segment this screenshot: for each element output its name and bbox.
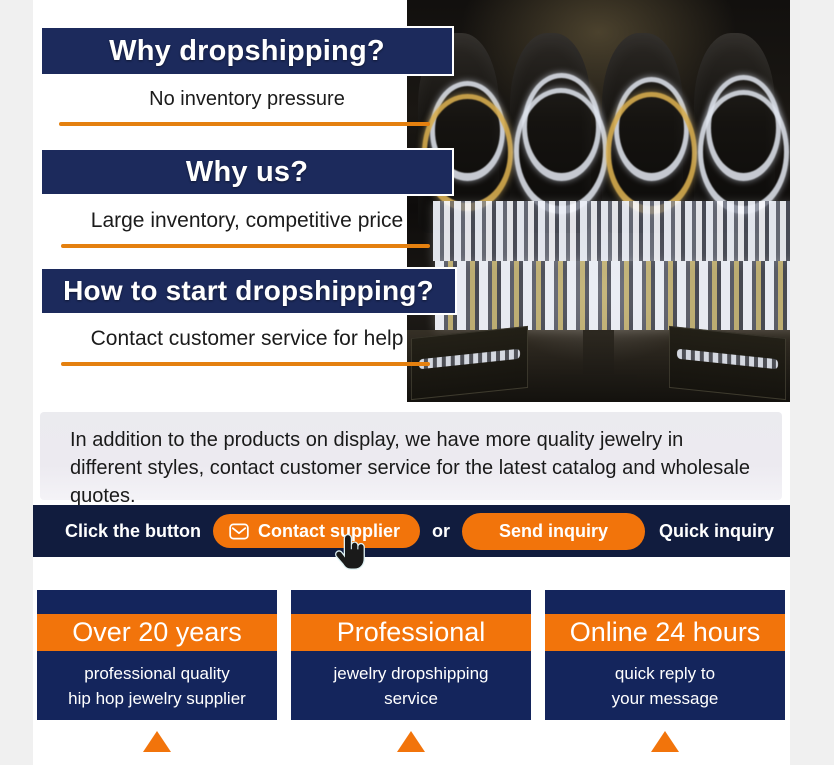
subtext-no-inventory-pressure: No inventory pressure xyxy=(40,88,454,111)
cta-lead-text: Click the button xyxy=(65,521,201,542)
card-title: Professional xyxy=(291,614,531,651)
heading-band-why-us: Why us? xyxy=(40,148,454,196)
card-body: jewelry dropshipping service xyxy=(291,651,531,720)
triangle-marker-icon xyxy=(397,731,425,752)
card-cap xyxy=(545,590,785,614)
subtext-contact-customer-service: Contact customer service for help xyxy=(40,327,454,351)
contact-supplier-button[interactable]: Contact supplier xyxy=(213,514,420,548)
card-title: Online 24 hours xyxy=(545,614,785,651)
feature-card-over-20-years[interactable]: Over 20 years professional quality hip h… xyxy=(35,588,279,722)
card-line-2: your message xyxy=(612,686,719,711)
feature-card-professional[interactable]: Professional jewelry dropshipping servic… xyxy=(289,588,533,722)
cta-or-label: or xyxy=(432,521,450,542)
card-line-1: quick reply to xyxy=(615,661,715,686)
card-body: professional quality hip hop jewelry sup… xyxy=(37,651,277,720)
heading-text: Why dropshipping? xyxy=(109,35,385,68)
card-line-2: service xyxy=(384,686,438,711)
feature-card-online-24-hours[interactable]: Online 24 hours quick reply to your mess… xyxy=(543,588,787,722)
heading-band-how-to-start: How to start dropshipping? xyxy=(40,267,457,315)
feature-card-strip: Over 20 years professional quality hip h… xyxy=(33,583,790,765)
card-line-1: jewelry dropshipping xyxy=(334,661,489,686)
orange-rule xyxy=(61,362,430,366)
card-line-2: hip hop jewelry supplier xyxy=(68,686,246,711)
promo-page: Why dropshipping? No inventory pressure … xyxy=(33,0,790,765)
heading-band-why-dropshipping: Why dropshipping? xyxy=(40,26,454,76)
contact-supplier-label: Contact supplier xyxy=(258,521,400,542)
card-title: Over 20 years xyxy=(37,614,277,651)
orange-rule xyxy=(61,244,430,248)
bracelet-rack xyxy=(433,201,790,261)
subtext-large-inventory: Large inventory, competitive price xyxy=(40,209,454,233)
orange-rule xyxy=(59,122,430,126)
card-line-1: professional quality xyxy=(84,661,230,686)
chain xyxy=(514,88,608,214)
card-cap xyxy=(37,590,277,614)
heading-text: How to start dropshipping? xyxy=(63,275,434,307)
triangle-marker-icon xyxy=(651,731,679,752)
envelope-icon xyxy=(229,523,249,540)
quick-inquiry-label: Quick inquiry xyxy=(659,521,774,542)
card-cap xyxy=(291,590,531,614)
jewelry-display-photo xyxy=(407,0,790,402)
jewelry-tray xyxy=(669,326,786,401)
hero-section: Why dropshipping? No inventory pressure … xyxy=(33,0,790,402)
description-paragraph: In addition to the products on display, … xyxy=(40,412,782,500)
send-inquiry-button[interactable]: Send inquiry xyxy=(462,513,645,550)
heading-text: Why us? xyxy=(186,156,308,189)
card-body: quick reply to your message xyxy=(545,651,785,720)
chain xyxy=(698,90,788,214)
cta-bar: Click the button Contact supplier or Sen… xyxy=(33,505,790,557)
triangle-marker-icon xyxy=(143,731,171,752)
chain xyxy=(606,92,696,214)
send-inquiry-label: Send inquiry xyxy=(499,521,608,542)
bracelet-rack xyxy=(435,261,790,329)
